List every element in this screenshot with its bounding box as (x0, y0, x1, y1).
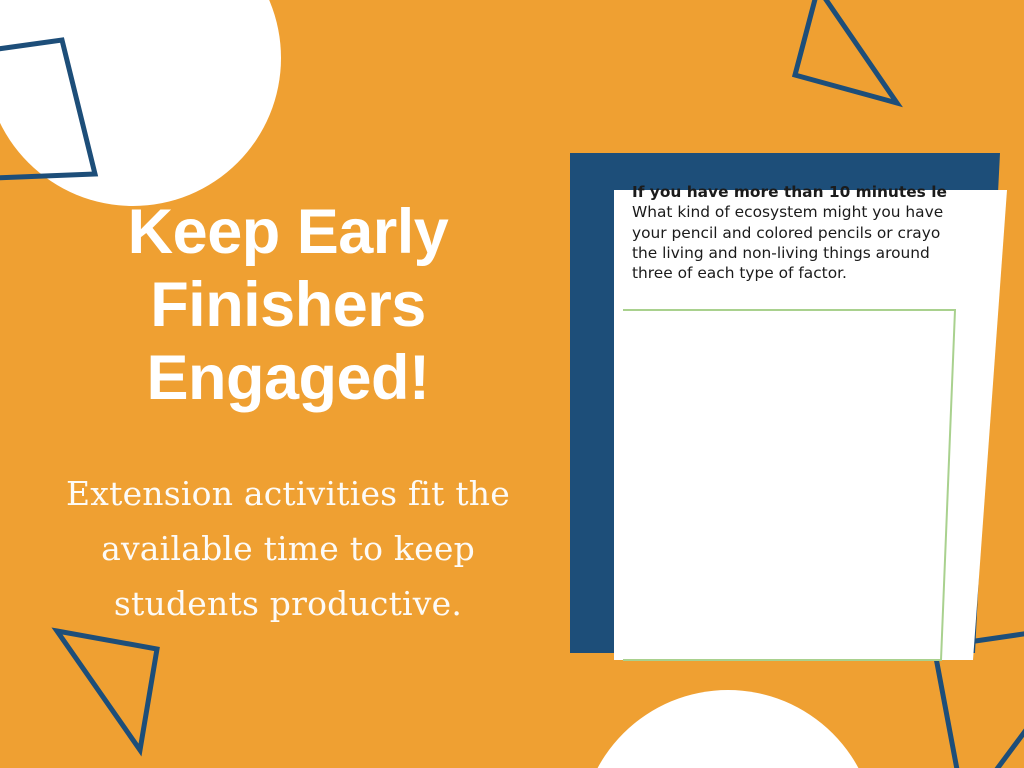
worksheet-body-text: What kind of ecosystem might you have yo… (632, 202, 1024, 283)
white-circle-top-left-icon (0, 0, 281, 206)
navy-quad-top-left-icon (0, 40, 95, 178)
page-subtitle: Extension activities fit the available t… (50, 467, 526, 631)
white-circle-bottom-center-icon (580, 690, 876, 768)
slide-canvas: Keep Early Finishers Engaged! Extension … (0, 0, 1024, 768)
headline-block: Keep Early Finishers Engaged! Extension … (36, 196, 540, 632)
worksheet-heading: If you have more than 10 minutes le (632, 182, 1024, 202)
worksheet-graphic: If you have more than 10 minutes le What… (555, 140, 1024, 680)
navy-triangle-top-right-icon (795, 0, 897, 103)
page-title: Keep Early Finishers Engaged! (36, 196, 540, 415)
navy-triangle-bottom-left-icon (57, 631, 157, 750)
worksheet-text-block: If you have more than 10 minutes le What… (632, 182, 1024, 284)
